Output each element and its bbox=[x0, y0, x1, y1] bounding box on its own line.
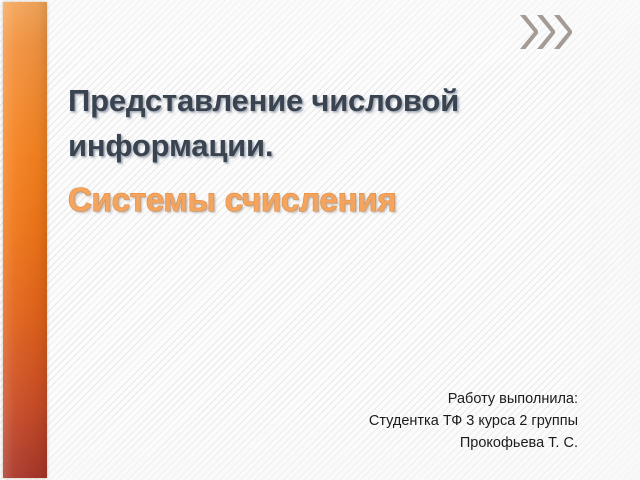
presentation-slide: Представление числовой информации. Систе… bbox=[0, 0, 640, 480]
chevron-right-icon bbox=[552, 13, 572, 51]
accent-bar-gloss bbox=[3, 2, 47, 478]
slide-title-line-1: Представление числовой bbox=[68, 78, 568, 123]
chevron-decoration bbox=[518, 13, 576, 53]
attribution-line-group: Студентка ТФ 3 курса 2 группы bbox=[158, 410, 578, 432]
author-attribution-block: Работу выполнила: Студентка ТФ 3 курса 2… bbox=[158, 388, 578, 454]
slide-title-block: Представление числовой информации. Систе… bbox=[68, 78, 568, 222]
slide-title-line-2: информации. bbox=[68, 123, 568, 168]
attribution-line-role: Работу выполнила: bbox=[158, 388, 578, 410]
slide-subtitle: Системы счисления bbox=[68, 178, 568, 222]
left-accent-bar bbox=[3, 2, 47, 478]
attribution-line-name: Прокофьева Т. С. bbox=[158, 432, 578, 454]
